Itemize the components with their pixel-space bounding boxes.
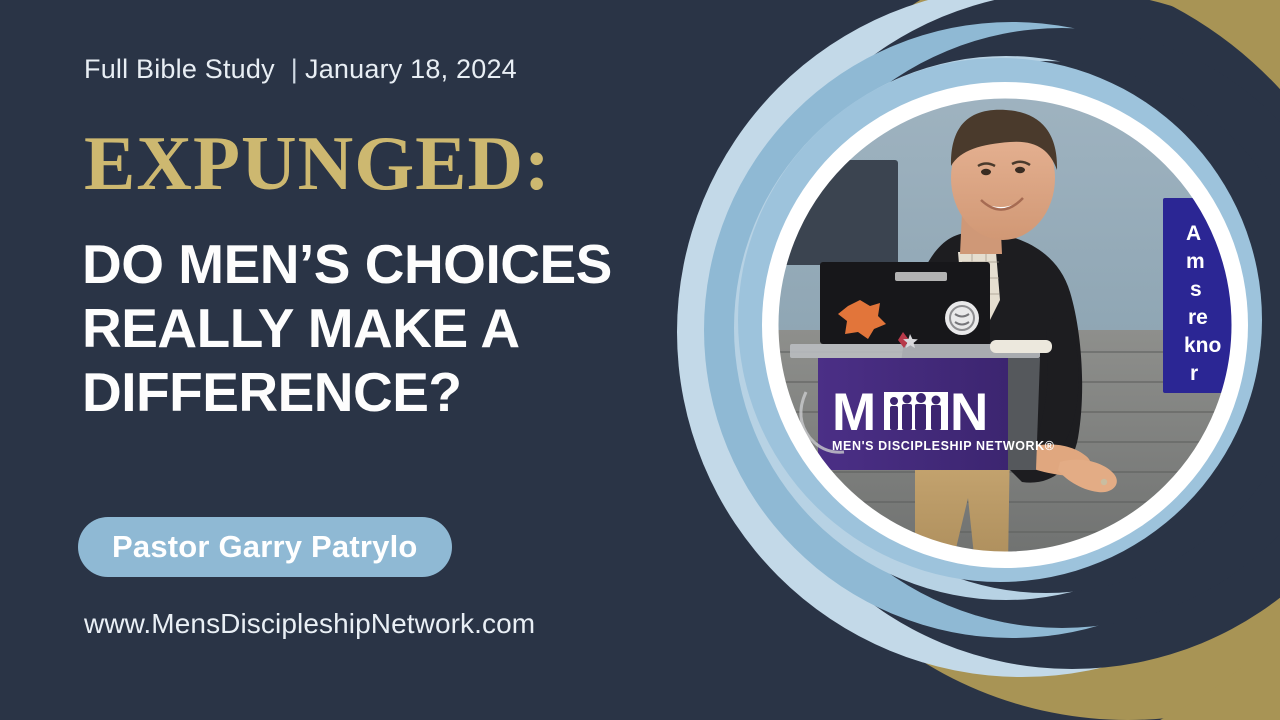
slide-date: January 18, 2024 [305,54,517,84]
olive-arc [738,0,1280,720]
background-sign: A m s re kno r [1163,198,1241,393]
svg-text:s: s [1190,278,1202,301]
svg-text:r: r [1190,362,1198,385]
photo-white-ring [762,82,1248,568]
laptop [820,262,990,344]
hair [951,110,1057,170]
subtitle-line-2: REALLY MAKE A [82,297,712,361]
lectern-body [1000,358,1040,470]
laptop-round-sticker [945,301,979,335]
olive-arc-shade [1180,0,1280,700]
svg-text:N: N [950,383,987,442]
pale-blue-inner-arc [734,56,1278,600]
subtitle-line-3: DIFFERENCE? [82,361,712,425]
lectern-pin [898,332,918,348]
promo-slide: A m s re kno r [0,0,1280,720]
subtitle-line-1: DO MEN’S CHOICES [82,233,712,297]
navy-cutout [733,0,1280,669]
arm-right [1028,300,1079,458]
series-label: Full Bible Study [84,54,275,84]
trousers [915,440,1010,565]
page-subtitle: DO MEN’S CHOICES REALLY MAKE A DIFFERENC… [82,233,712,424]
svg-text:MEN'S DISCIPLESHIP NETWORK®: MEN'S DISCIPLESHIP NETWORK® [832,439,1055,453]
svg-text:kno: kno [1184,334,1221,357]
page-title-gold: EXPUNGED: [84,125,551,202]
speaker-name: Pastor Garry Patrylo [112,529,418,565]
mdn-silhouettes [890,393,941,430]
soft-blue-disc [738,58,1262,582]
website-url: www.MensDiscipleshipNetwork.com [84,608,535,640]
sweater [906,232,1082,483]
kicker-separator: | [275,54,305,84]
laptop-orange-sticker [838,300,886,339]
svg-text:m: m [1186,250,1205,273]
svg-text:M: M [832,383,875,442]
slide-kicker: Full Bible Study|January 18, 2024 [84,54,517,85]
head [951,116,1055,240]
arm-left [899,300,940,430]
hands [1020,444,1117,492]
olive-arc-front [1160,0,1280,720]
speaker-badge: Pastor Garry Patrylo [78,517,452,577]
mdn-banner [818,358,1008,470]
neck [960,212,1002,254]
svg-text:A: A [1186,222,1201,245]
steel-blue-arc [704,22,1280,638]
collar [958,252,1000,330]
wall-monitor [778,160,898,265]
speaker-photo: A m s re kno r [770,90,1245,565]
pale-blue-arc [677,0,1280,677]
steel-blue-inner-cut [762,28,1280,628]
lectern-top [790,344,1040,358]
svg-text:re: re [1188,306,1208,329]
mdn-logo: M N MEN'S DISCIPLESHIP NETWORK® [832,383,1055,453]
pale-blue-inner-cut [780,61,1280,593]
